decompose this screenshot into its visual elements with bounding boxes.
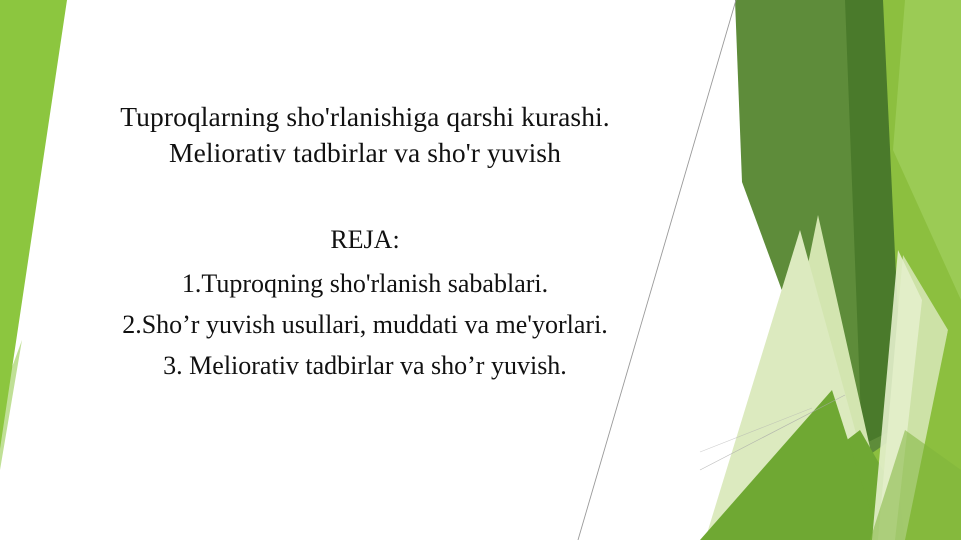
right-edge-light-sliver	[893, 0, 961, 300]
slide-body: REJA: 1.Tuproqning sho'rlanish sabablari…	[40, 227, 690, 379]
dark-green-diagonal-band	[735, 0, 905, 470]
body-item-3: 3. Meliorativ tadbirlar va sho’r yuvish.	[40, 353, 690, 379]
body-item-1: 1.Tuproqning sho'rlanish sabablari.	[40, 271, 690, 297]
title-line-2: Meliorativ tadbirlar va sho'r yuvish	[60, 135, 670, 171]
pale-green-large-triangle	[700, 215, 875, 540]
bright-green-bottom-overlay	[905, 330, 961, 540]
body-item-2: 2.Sho’r yuvish usullari, muddati va me'y…	[40, 312, 690, 338]
slide-content: Tuproqlarning sho'rlanishiga qarshi kura…	[0, 0, 720, 540]
pale-green-vertical-fan	[878, 255, 948, 540]
right-bright-green-panel	[770, 0, 961, 540]
soft-green-veil	[870, 430, 961, 540]
body-heading: REJA:	[40, 227, 690, 253]
slide-title: Tuproqlarning sho'rlanishiga qarshi kura…	[60, 99, 670, 171]
deep-green-inner-wedge	[845, 0, 903, 445]
pale-green-fan-secondary	[872, 250, 922, 540]
presentation-slide: Tuproqlarning sho'rlanishiga qarshi kura…	[0, 0, 961, 540]
hairline-diagonal-secondary	[700, 395, 845, 470]
mid-green-bottom-triangle	[716, 430, 905, 540]
mid-green-lower-wedge	[700, 390, 880, 540]
title-line-1: Tuproqlarning sho'rlanishiga qarshi kura…	[60, 99, 670, 135]
pale-green-secondary-triangle	[705, 230, 862, 540]
